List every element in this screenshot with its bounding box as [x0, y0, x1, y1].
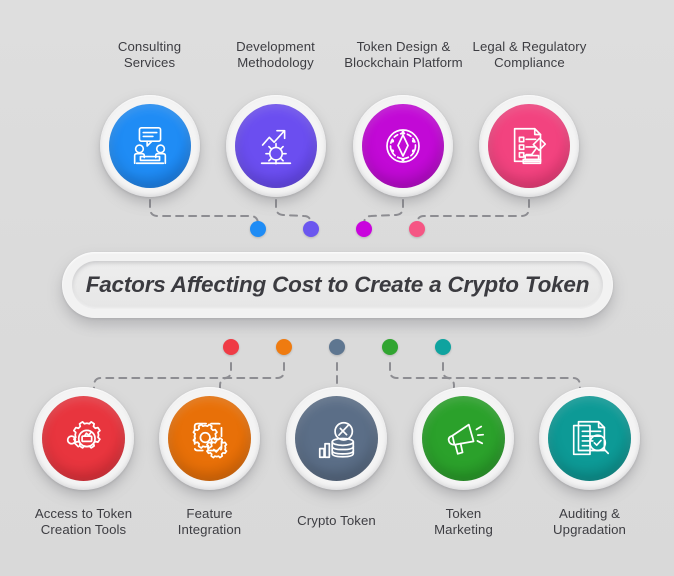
top-node-token-design-blockchain-platform[interactable]	[353, 95, 453, 197]
page-title: Factors Affecting Cost to Create a Crypt…	[86, 272, 590, 298]
gears-check-icon	[187, 416, 233, 462]
connector-dot-bottom-0	[223, 339, 239, 355]
audit-documents-search-icon	[567, 416, 613, 462]
bottom-node-auditing-upgradation[interactable]	[539, 387, 640, 490]
bottom-node-access-to-token-creation-tools[interactable]	[33, 387, 134, 490]
center-banner: Factors Affecting Cost to Create a Crypt…	[62, 252, 613, 318]
gear-growth-arrow-icon	[253, 123, 299, 169]
top-node-consulting-services[interactable]	[100, 95, 200, 197]
top-label-3: Legal & Regulatory Compliance	[451, 39, 608, 70]
connector-dot-bottom-1	[276, 339, 292, 355]
bottom-node-crypto-token[interactable]	[286, 387, 387, 490]
connector-dot-bottom-2	[329, 339, 345, 355]
top-node-development-methodology[interactable]	[226, 95, 326, 197]
connector-dot-top-1	[303, 221, 319, 237]
megaphone-icon	[441, 416, 487, 462]
center-banner-inner: Factors Affecting Cost to Create a Crypt…	[72, 261, 603, 309]
bottom-label-4: Auditing & Upgradation	[513, 506, 666, 537]
connector-dot-bottom-3	[382, 339, 398, 355]
legal-gavel-document-icon	[506, 123, 552, 169]
top-node-legal-regulatory-compliance[interactable]	[479, 95, 579, 197]
infographic-canvas: Consulting Services Development Methodol…	[0, 0, 674, 576]
connector-dot-top-2	[356, 221, 372, 237]
bottom-node-feature-integration[interactable]	[159, 387, 260, 490]
connector-dot-top-3	[409, 221, 425, 237]
bottom-node-token-marketing[interactable]	[413, 387, 514, 490]
connector-dot-bottom-4	[435, 339, 451, 355]
consulting-meeting-icon	[127, 123, 173, 169]
coins-barchart-icon	[314, 416, 360, 462]
gear-search-tools-icon	[61, 416, 107, 462]
connector-dot-top-0	[250, 221, 266, 237]
crypto-coin-diamond-icon	[379, 122, 427, 170]
